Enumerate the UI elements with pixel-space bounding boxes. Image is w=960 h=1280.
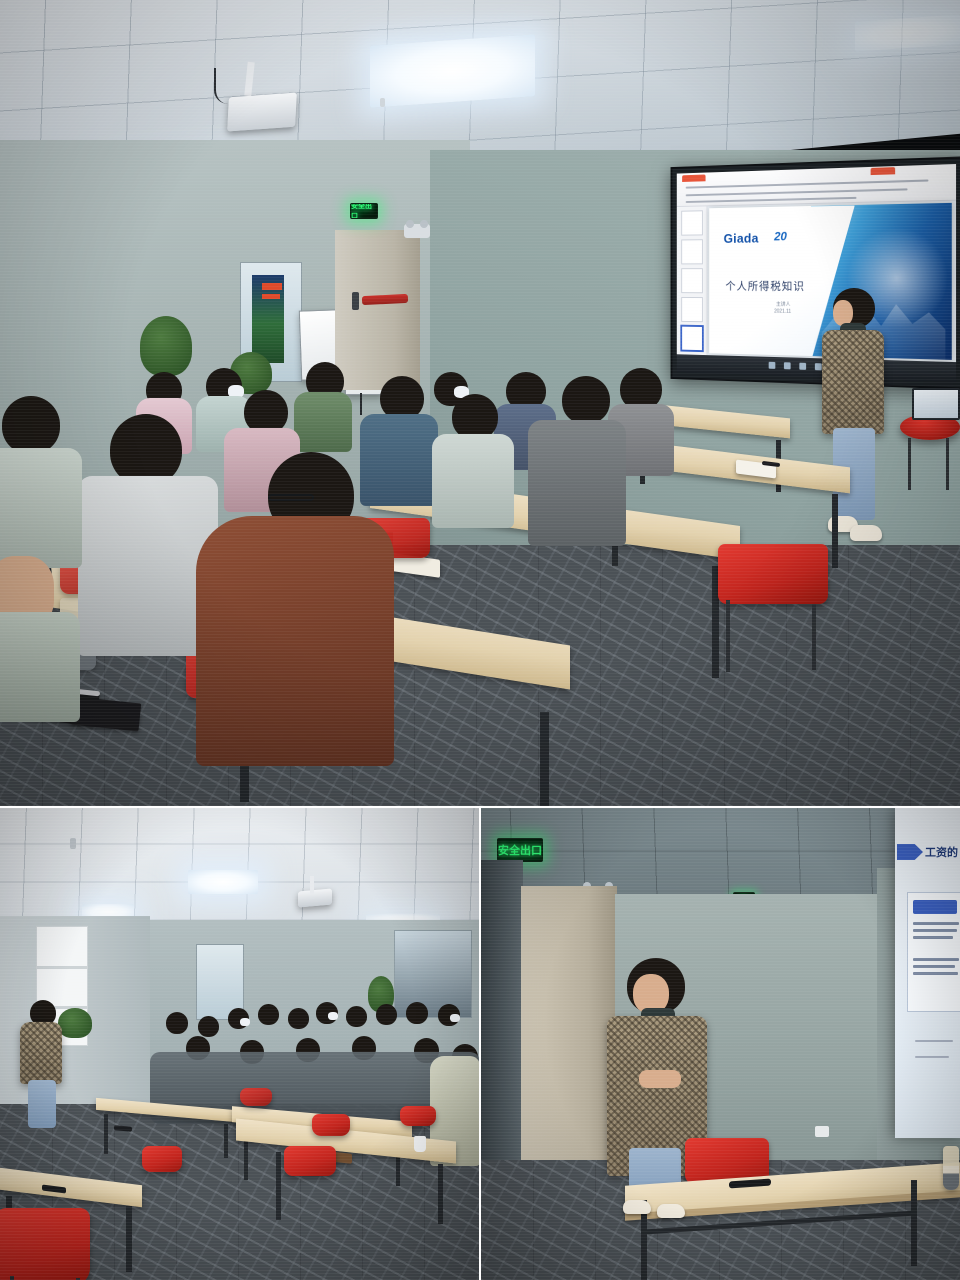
- top-panel: 安全出口: [0, 0, 960, 806]
- window-right: [394, 930, 472, 1018]
- taskbar-icon[interactable]: [799, 363, 806, 370]
- desk-leg: [911, 1180, 917, 1266]
- exit-sign-label: 安全出口: [351, 203, 377, 219]
- projector: [298, 889, 332, 908]
- projected-desktop: Giada 20 个人所得税知识 主讲人 2021.11: [677, 164, 956, 382]
- ppt-thumbnail[interactable]: [681, 297, 703, 322]
- poster-band: [262, 294, 280, 299]
- exit-sign: 安全出口: [350, 203, 378, 219]
- wall-outlet: [815, 1126, 829, 1137]
- wall-left-column: [481, 860, 523, 1160]
- chair: [718, 544, 828, 604]
- attendee-head: [376, 1004, 397, 1025]
- attendee-body: [360, 414, 438, 506]
- bottom-left-panel: [0, 808, 479, 1280]
- door-handle[interactable]: [352, 292, 359, 310]
- attendee-head: [166, 1012, 188, 1034]
- ppt-active-tab[interactable]: [682, 175, 705, 182]
- chair-leg: [10, 1276, 14, 1280]
- attendee-head: [406, 1002, 428, 1024]
- exit-door[interactable]: [335, 230, 420, 390]
- wall-poster: [252, 275, 284, 363]
- projection-screen: Giada 20 个人所得税知识 主讲人 2021.11: [671, 156, 960, 389]
- stool-leg: [946, 438, 949, 490]
- stool-leg: [908, 438, 911, 490]
- door-panel: [521, 886, 617, 1176]
- slide-anniversary-badge: 20: [774, 230, 787, 244]
- laptop[interactable]: [912, 388, 960, 420]
- ppt-thumbnail[interactable]: [681, 269, 703, 294]
- slide-date-line: 2021.11: [774, 309, 791, 315]
- collage-gutter-vertical: [479, 808, 481, 1280]
- presenter-sneaker: [850, 525, 882, 541]
- ppt-ribbon: [677, 164, 956, 207]
- ppt-tab[interactable]: [871, 167, 896, 175]
- poster-band: [262, 283, 282, 290]
- attendee-head: [562, 376, 610, 424]
- attendee-head: [258, 1004, 279, 1025]
- led-panel-light: [188, 870, 258, 894]
- slide-text-line: [913, 929, 957, 932]
- attendee-body: [294, 392, 352, 452]
- slide-brand-logo: Giada: [724, 231, 759, 246]
- desk-leg: [126, 1206, 132, 1272]
- ppt-toolbar-row: [686, 188, 908, 196]
- water-bottle: [943, 1146, 959, 1190]
- slide-presenter-line: 主讲人: [776, 301, 790, 308]
- exit-sign-label: 安全出口: [498, 842, 542, 858]
- chair: [0, 1208, 90, 1280]
- face-mask: [328, 1012, 338, 1020]
- projector: [227, 93, 297, 132]
- attendee-head: [198, 1016, 219, 1037]
- face-mask: [240, 1018, 250, 1026]
- ppt-toolbar-row: [686, 179, 929, 188]
- slide-bullet-arrow: [897, 844, 923, 860]
- sprinkler-head: [380, 98, 385, 107]
- chair: [400, 1106, 436, 1126]
- presenter-blazer: [822, 330, 884, 434]
- presenter-sneaker: [657, 1204, 685, 1218]
- slide-title: 个人所得税知识: [725, 278, 804, 294]
- slide-heading: 工资的: [925, 844, 958, 860]
- led-panel-light: [370, 34, 535, 108]
- desk-leg: [104, 1114, 108, 1154]
- slide-footnote: [915, 1056, 949, 1058]
- ppt-thumbnail-selected[interactable]: [681, 326, 703, 351]
- attendee-hoodie-brown: [196, 516, 394, 766]
- desk-leg: [832, 494, 838, 568]
- ppt-thumbnail[interactable]: [681, 211, 703, 236]
- desk-leg: [224, 1124, 228, 1158]
- face-mask: [450, 1014, 460, 1022]
- photo-collage: 安全出口: [0, 0, 960, 1280]
- instructor-jeans: [28, 1080, 56, 1128]
- attendee-head: [2, 396, 60, 454]
- bookshelf-divider: [36, 966, 88, 969]
- slide-text-line: [913, 965, 955, 968]
- slide-text-line: [913, 936, 953, 939]
- taskbar-icon[interactable]: [815, 363, 822, 370]
- chair-leg: [812, 604, 816, 670]
- presenter-sneaker: [623, 1200, 651, 1214]
- attendee-head: [346, 1006, 367, 1027]
- slide-text-line: [913, 972, 958, 975]
- projector-mount-arm: [310, 876, 314, 894]
- chair: [142, 1146, 182, 1172]
- ppt-toolbar-row: [686, 197, 857, 203]
- potted-plant: [58, 1008, 92, 1038]
- attendee-arm: [0, 612, 80, 722]
- desk-leg: [276, 1152, 281, 1220]
- exit-sign: 安全出口: [497, 838, 543, 862]
- attendee-head: [288, 1008, 309, 1029]
- slide-footnote: [915, 1040, 953, 1042]
- presenter-hands: [639, 1070, 681, 1088]
- sprinkler-head: [70, 838, 76, 849]
- slide-table-header: [913, 900, 957, 914]
- attendee-body: [0, 448, 82, 568]
- potted-plant: [140, 316, 192, 376]
- chair: [312, 1114, 350, 1136]
- ppt-thumbnail[interactable]: [681, 240, 703, 265]
- eyeglasses: [268, 494, 314, 501]
- emergency-light: [404, 224, 430, 238]
- paper-cup: [414, 1136, 426, 1152]
- attendee-body: [528, 420, 626, 546]
- taskbar-icon[interactable]: [769, 362, 776, 369]
- chair-leg: [726, 600, 730, 672]
- taskbar-icon[interactable]: [784, 363, 791, 370]
- chair: [284, 1146, 336, 1176]
- desk-leg: [438, 1164, 443, 1224]
- bottom-right-panel: 安全出口 出口 工资的: [481, 808, 960, 1280]
- attendee-body: [432, 434, 514, 528]
- desk-leg: [540, 712, 549, 806]
- instructor-blazer: [20, 1022, 62, 1084]
- slide-text-line: [913, 958, 959, 961]
- slide-text-line: [913, 922, 959, 925]
- ppt-slide-thumbnail-rail[interactable]: [677, 207, 708, 356]
- chair: [240, 1088, 272, 1106]
- projection-screen: 工资的: [895, 808, 960, 1138]
- flipchart-leg: [360, 393, 362, 415]
